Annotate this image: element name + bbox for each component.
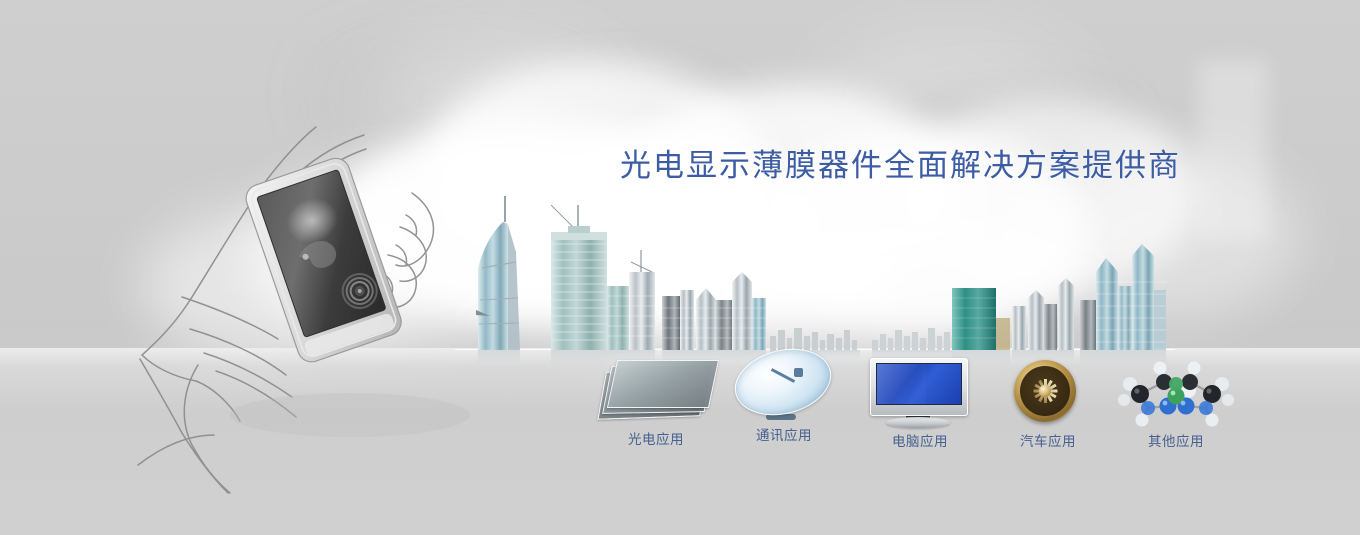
application-label: 汽车应用 [984,430,1112,450]
satellite-dish-icon [720,348,848,422]
application-label: 其他应用 [1112,430,1240,450]
hero-banner: 光电显示薄膜器件全面解决方案提供商 光电应用 通讯应用 [0,0,1360,535]
application-label: 电脑应用 [856,430,984,450]
building-main-tower [551,205,607,366]
building-sail-tower [476,196,520,364]
application-item-computer[interactable]: 电脑应用 [856,354,984,450]
hand-holding-phone-illustration [120,115,480,505]
application-item-communication[interactable]: 通讯应用 [720,348,848,444]
application-label: 通讯应用 [720,424,848,444]
application-item-other[interactable]: 其他应用 [1112,354,1240,450]
application-label: 光电应用 [592,428,720,448]
molecule-icon [1112,354,1240,428]
monitor-icon [856,354,984,428]
application-icon-row: 光电应用 通讯应用 电脑应用 [560,352,1200,467]
glass-panels-icon [592,352,720,426]
page-title: 光电显示薄膜器件全面解决方案提供商 [620,140,1181,185]
building-group-right-silver [1012,278,1074,362]
smartphone-device [242,155,405,366]
car-wheel-icon [984,354,1112,428]
building-group-center [607,250,655,363]
application-item-optoelectronic[interactable]: 光电应用 [592,352,720,448]
application-item-automotive[interactable]: 汽车应用 [984,354,1112,450]
building-blue-glass-towers [1080,244,1166,366]
